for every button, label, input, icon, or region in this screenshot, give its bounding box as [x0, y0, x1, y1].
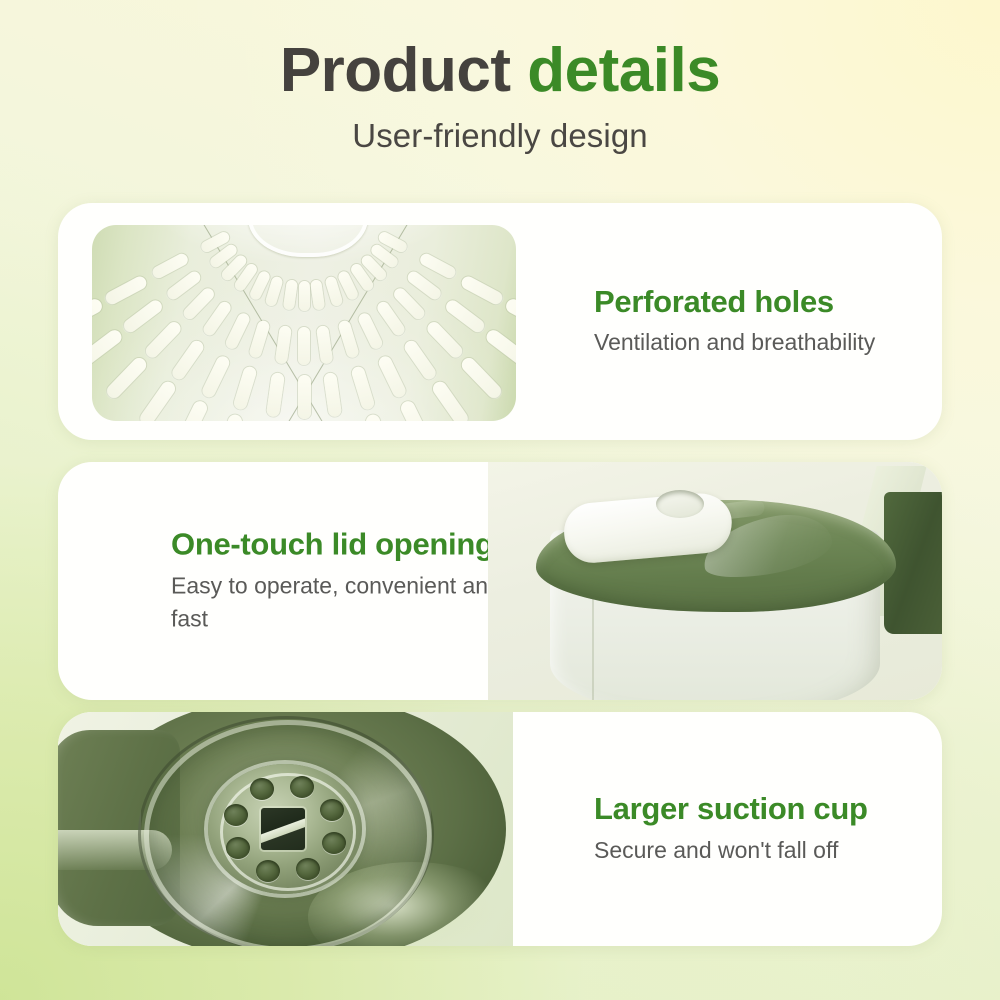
perforated-tray-photo: [92, 225, 516, 421]
tray-slot: [298, 327, 310, 365]
tray-slot: [298, 375, 311, 419]
feature-description: Easy to operate, convenient and fast: [171, 569, 531, 636]
page-title-accent: details: [527, 36, 720, 105]
lid-button-notch: [656, 490, 704, 518]
feature-text-perforated-holes: Perforated holes Ventilation and breatha…: [594, 284, 942, 360]
page-title: Product details: [0, 38, 1000, 103]
suction-cup-vent-hole: [256, 860, 280, 882]
feature-title: Larger suction cup: [594, 791, 942, 828]
suction-cup-vent-hole: [296, 858, 320, 880]
feature-card-larger-suction-cup: Larger suction cup Secure and won't fall…: [58, 712, 942, 946]
product-details-infographic: Product details User-friendly design Per…: [0, 0, 1000, 1000]
page-subtitle: User-friendly design: [0, 117, 1000, 155]
page-header: Product details User-friendly design: [0, 38, 1000, 155]
feature-text-larger-suction-cup: Larger suction cup Secure and won't fall…: [594, 791, 942, 867]
page-title-primary: Product: [280, 36, 527, 105]
feature-title: One-touch lid opening: [171, 526, 531, 563]
one-touch-lid-photo: [488, 462, 942, 700]
feature-text-one-touch-lid-opening: One-touch lid opening Easy to operate, c…: [171, 526, 531, 635]
suction-cup-vent-hole: [224, 804, 248, 826]
tray-slot: [299, 281, 310, 311]
suction-cup-photo: [58, 712, 513, 946]
suction-cup-vent-hole: [320, 799, 344, 821]
feature-card-perforated-holes: Perforated holes Ventilation and breatha…: [58, 203, 942, 440]
suction-cup-center-valve: [261, 808, 305, 850]
feature-card-one-touch-lid-opening: One-touch lid opening Easy to operate, c…: [58, 462, 942, 700]
feature-description: Secure and won't fall off: [594, 834, 942, 867]
feature-description: Ventilation and breathability: [594, 326, 942, 359]
feature-title: Perforated holes: [594, 284, 942, 321]
